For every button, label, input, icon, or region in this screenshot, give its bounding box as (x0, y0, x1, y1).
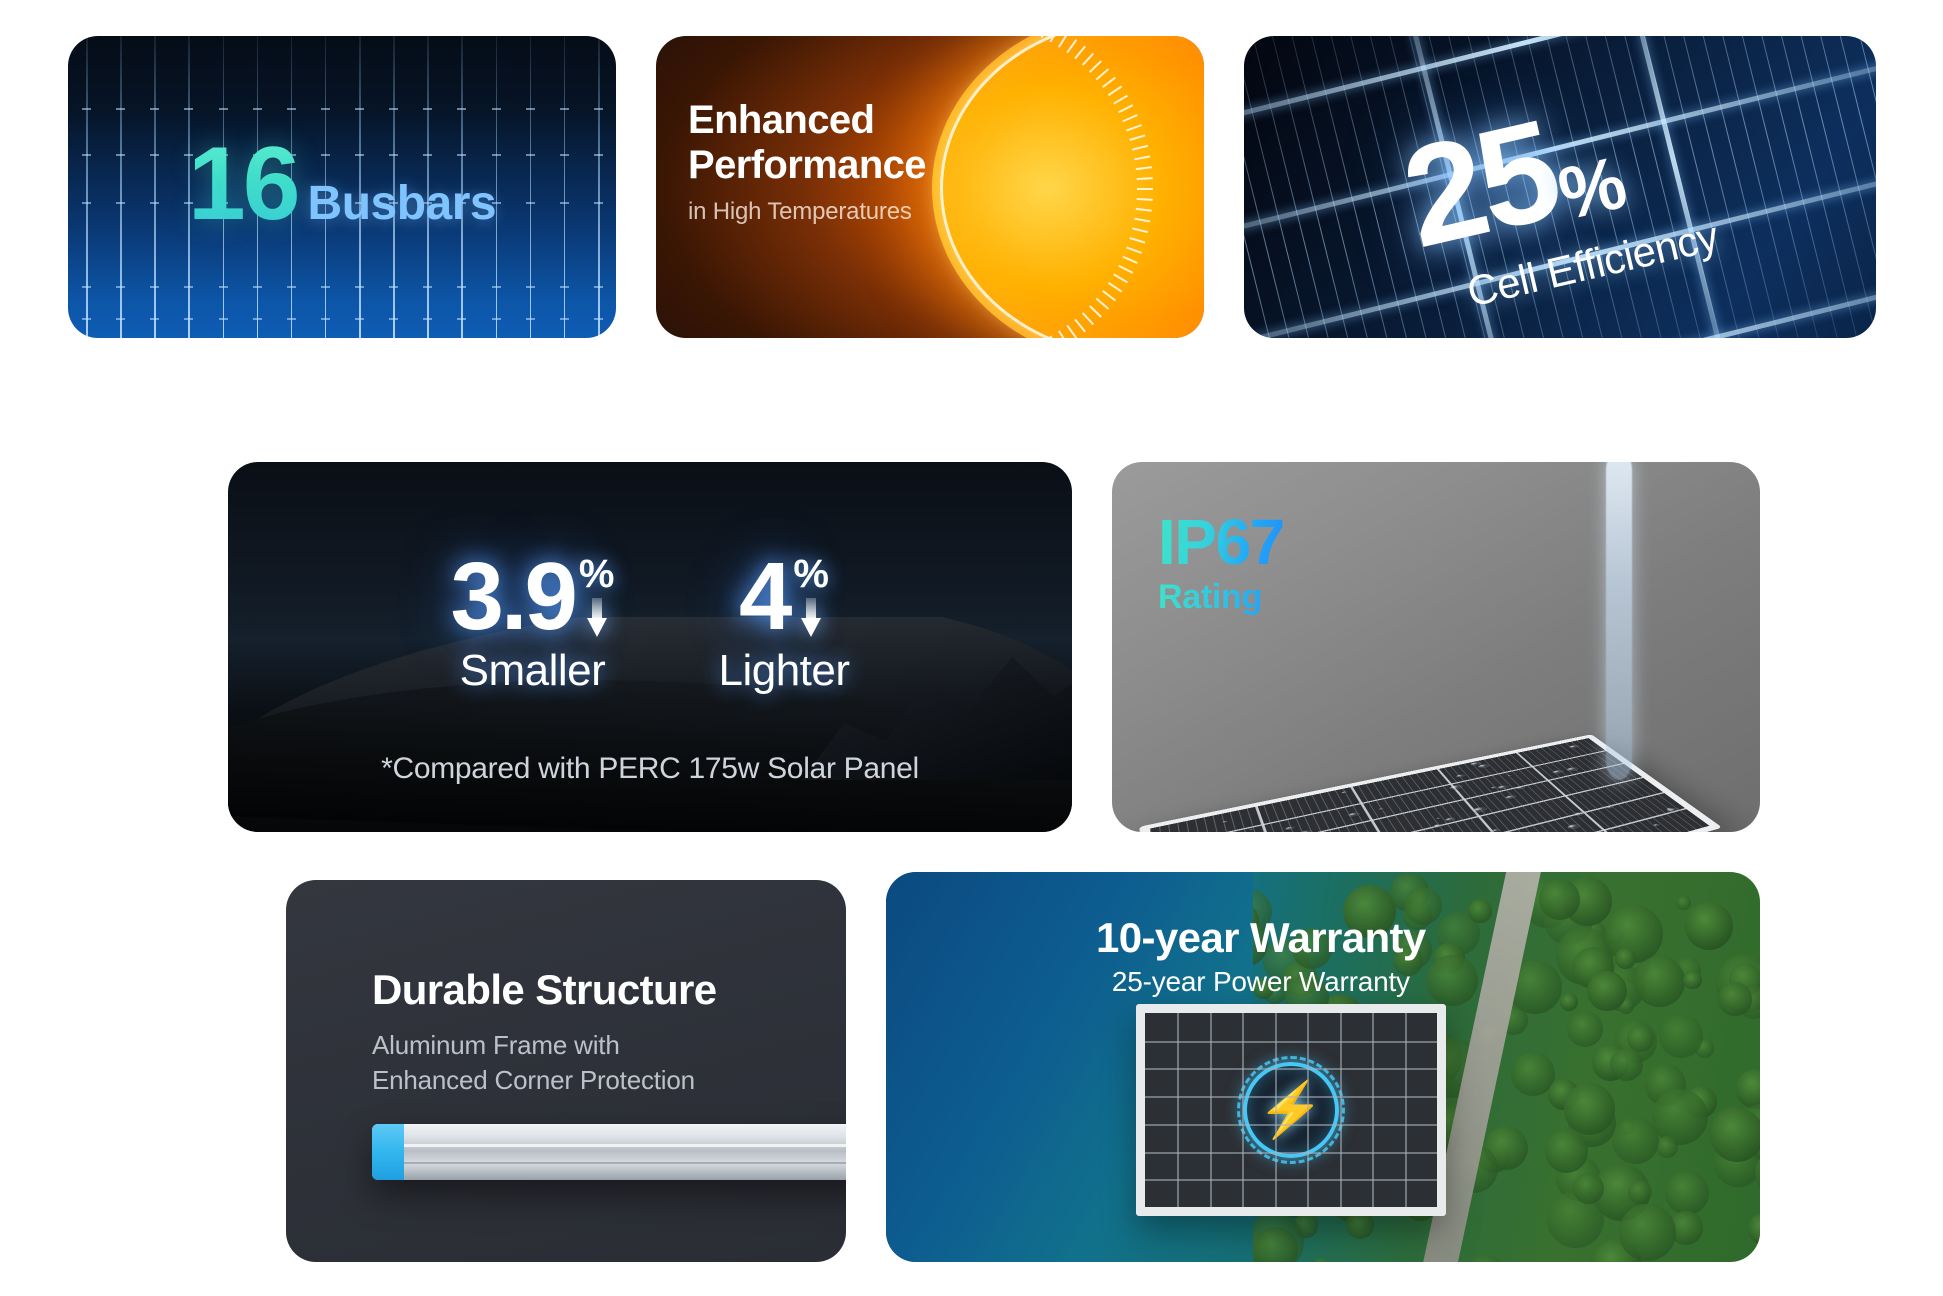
arrow-down-icon (801, 598, 821, 638)
enhanced-performance-title: Enhanced Performance (688, 98, 1018, 188)
durable-subtitle: Aluminum Frame with Enhanced Corner Prot… (372, 1028, 717, 1098)
card-cell-efficiency[interactable]: 25% Cell Efficiency (1244, 36, 1876, 338)
size-footnote: *Compared with PERC 175w Solar Panel (228, 752, 1072, 786)
warranty-copy: 10-year Warranty 25-year Power Warranty (1096, 914, 1426, 998)
ip-rating-code: IP67 (1158, 510, 1284, 574)
infographic-board: 16 Busbars 70℃ 80℃ 90℃ Enhanced Performa… (0, 0, 1943, 1296)
water-droplet (1285, 826, 1296, 831)
busbars-number: 16 (188, 132, 298, 236)
durable-title: Durable Structure (372, 966, 717, 1014)
stat-smaller: 3.9 % Smaller (450, 550, 614, 696)
water-droplet (1515, 785, 1527, 790)
busbars-copy: 16 Busbars (68, 132, 616, 236)
stat-lighter-label: Lighter (718, 646, 849, 696)
stat-smaller-value: 3.9 (450, 550, 574, 644)
enhanced-performance-copy: Enhanced Performance in High Temperature… (688, 98, 1018, 226)
stat-smaller-label: Smaller (450, 646, 614, 696)
warranty-badge: ⚡ (1243, 1062, 1339, 1158)
water-droplet (1274, 831, 1288, 832)
card-busbars[interactable]: 16 Busbars (68, 36, 616, 338)
stat-smaller-unit: % (579, 554, 615, 594)
water-droplet (1652, 823, 1662, 827)
card-durable-structure[interactable]: Durable Structure Aluminum Frame with En… (286, 880, 846, 1262)
durable-copy: Durable Structure Aluminum Frame with En… (372, 966, 717, 1098)
stat-lighter: 4 % Lighter (718, 550, 849, 696)
card-ip67-rating[interactable]: BOUGERV IP67 Rating (1112, 462, 1760, 832)
solar-panel-3d-illustration: BOUGERV (1139, 734, 1722, 832)
warranty-panel-illustration: ⚡ (1136, 1004, 1446, 1216)
ip-rating-label: Rating (1158, 578, 1284, 617)
arrow-down-icon (587, 598, 607, 638)
stat-lighter-value: 4 (739, 550, 789, 644)
water-droplet (1507, 775, 1512, 777)
warranty-subtitle: 25-year Power Warranty (1096, 966, 1426, 998)
badge-ring-dots (1237, 1056, 1345, 1164)
card-smaller-lighter[interactable]: 3.9 % Smaller 4 % Lighter (228, 462, 1072, 832)
water-droplet (1222, 820, 1229, 823)
water-droplet (1573, 811, 1586, 817)
water-stream-icon (1606, 462, 1632, 780)
ip-rating-copy: IP67 Rating (1158, 510, 1284, 617)
card-warranty[interactable]: 10-year Warranty 25-year Power Warranty … (886, 872, 1760, 1262)
water-droplet (1436, 817, 1442, 820)
size-stats: 3.9 % Smaller 4 % Lighter (228, 550, 1072, 696)
stat-lighter-unit: % (793, 554, 829, 594)
enhanced-performance-subtitle: in High Temperatures (688, 198, 1018, 226)
warranty-title: 10-year Warranty (1096, 914, 1426, 962)
busbars-label: Busbars (308, 176, 497, 231)
card-enhanced-performance[interactable]: 70℃ 80℃ 90℃ Enhanced Performance in High… (656, 36, 1204, 338)
frame-corner-accent (372, 1124, 404, 1180)
aluminum-frame-illustration (372, 1124, 846, 1180)
